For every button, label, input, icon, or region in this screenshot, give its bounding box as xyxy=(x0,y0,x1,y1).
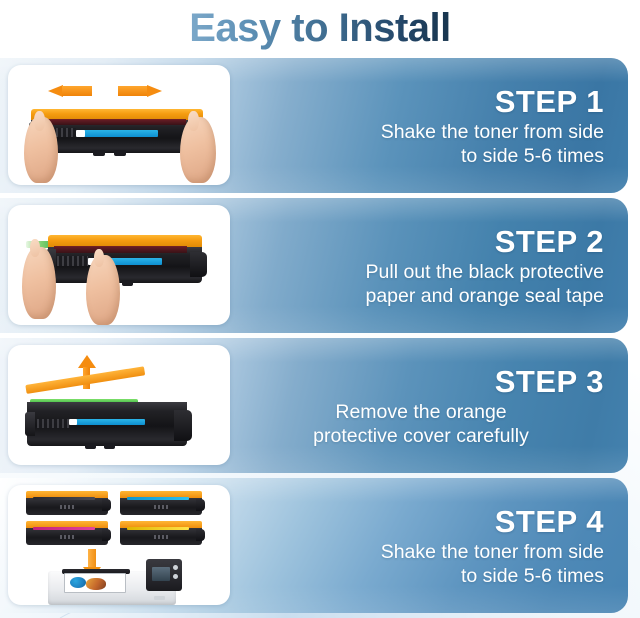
toner-install-printer-photo xyxy=(8,485,230,605)
step-3-description: Remove the orange protective cover caref… xyxy=(238,400,604,448)
install-instructions-infographic: Easy to Install xyxy=(0,0,640,618)
printer-display xyxy=(152,567,170,581)
step-3-description-line-1: Remove the orange xyxy=(335,401,506,423)
step-row-1: STEP 1 Shake the toner from side to side… xyxy=(0,58,628,193)
toner-cartridge xyxy=(27,402,187,446)
step-1-image-card xyxy=(8,65,230,185)
step-1-title: STEP 1 xyxy=(238,84,604,119)
step-4-image-card xyxy=(8,485,230,605)
step-1-description-line-1: Shake the toner from side xyxy=(381,121,604,143)
printer-front-button xyxy=(154,596,165,600)
toner-remove-cover-photo xyxy=(8,345,230,465)
page-title-container: Easy to Install xyxy=(0,0,640,56)
step-2-description-line-2: paper and orange seal tape xyxy=(365,285,604,307)
step-3-image-card xyxy=(8,345,230,465)
step-4-description: Shake the toner from side to side 5-6 ti… xyxy=(238,540,604,588)
arrow-left-icon xyxy=(48,85,92,97)
step-1-text: STEP 1 Shake the toner from side to side… xyxy=(238,64,616,187)
step-3-description-line-2: protective cover carefully xyxy=(313,425,529,447)
cartridge-yellow xyxy=(120,521,202,545)
cartridge-cyan xyxy=(120,491,202,515)
cartridge-black xyxy=(26,491,108,515)
cartridge-magenta xyxy=(26,521,108,545)
step-4-description-line-2: to side 5-6 times xyxy=(461,565,604,587)
step-2-description-line-1: Pull out the black protective xyxy=(366,261,604,283)
toner-cartridge xyxy=(48,235,202,283)
left-hand xyxy=(22,247,56,319)
step-1-description: Shake the toner from side to side 5-6 ti… xyxy=(238,120,604,168)
toner-shake-photo xyxy=(8,65,230,185)
step-row-4: STEP 4 Shake the toner from side to side… xyxy=(0,478,628,613)
step-4-title: STEP 4 xyxy=(238,504,604,539)
step-2-text: STEP 2 Pull out the black protective pap… xyxy=(238,204,616,327)
page-title: Easy to Install xyxy=(189,5,450,51)
step-2-description: Pull out the black protective paper and … xyxy=(238,260,604,308)
arrow-right-icon xyxy=(118,85,162,97)
step-2-title: STEP 2 xyxy=(238,224,604,259)
right-hand xyxy=(86,255,120,325)
step-row-2: STEP 2 Pull out the black protective pap… xyxy=(0,198,628,333)
step-4-text: STEP 4 Shake the toner from side to side… xyxy=(238,484,616,607)
toner-pull-seal-photo xyxy=(8,205,230,325)
step-2-image-card xyxy=(8,205,230,325)
step-4-description-line-1: Shake the toner from side xyxy=(381,541,604,563)
step-3-text: STEP 3 Remove the orange protective cove… xyxy=(238,344,616,467)
step-1-description-line-2: to side 5-6 times xyxy=(461,145,604,167)
step-row-3: STEP 3 Remove the orange protective cove… xyxy=(0,338,628,473)
step-3-title: STEP 3 xyxy=(238,364,604,399)
steps-list: STEP 1 Shake the toner from side to side… xyxy=(0,58,640,618)
